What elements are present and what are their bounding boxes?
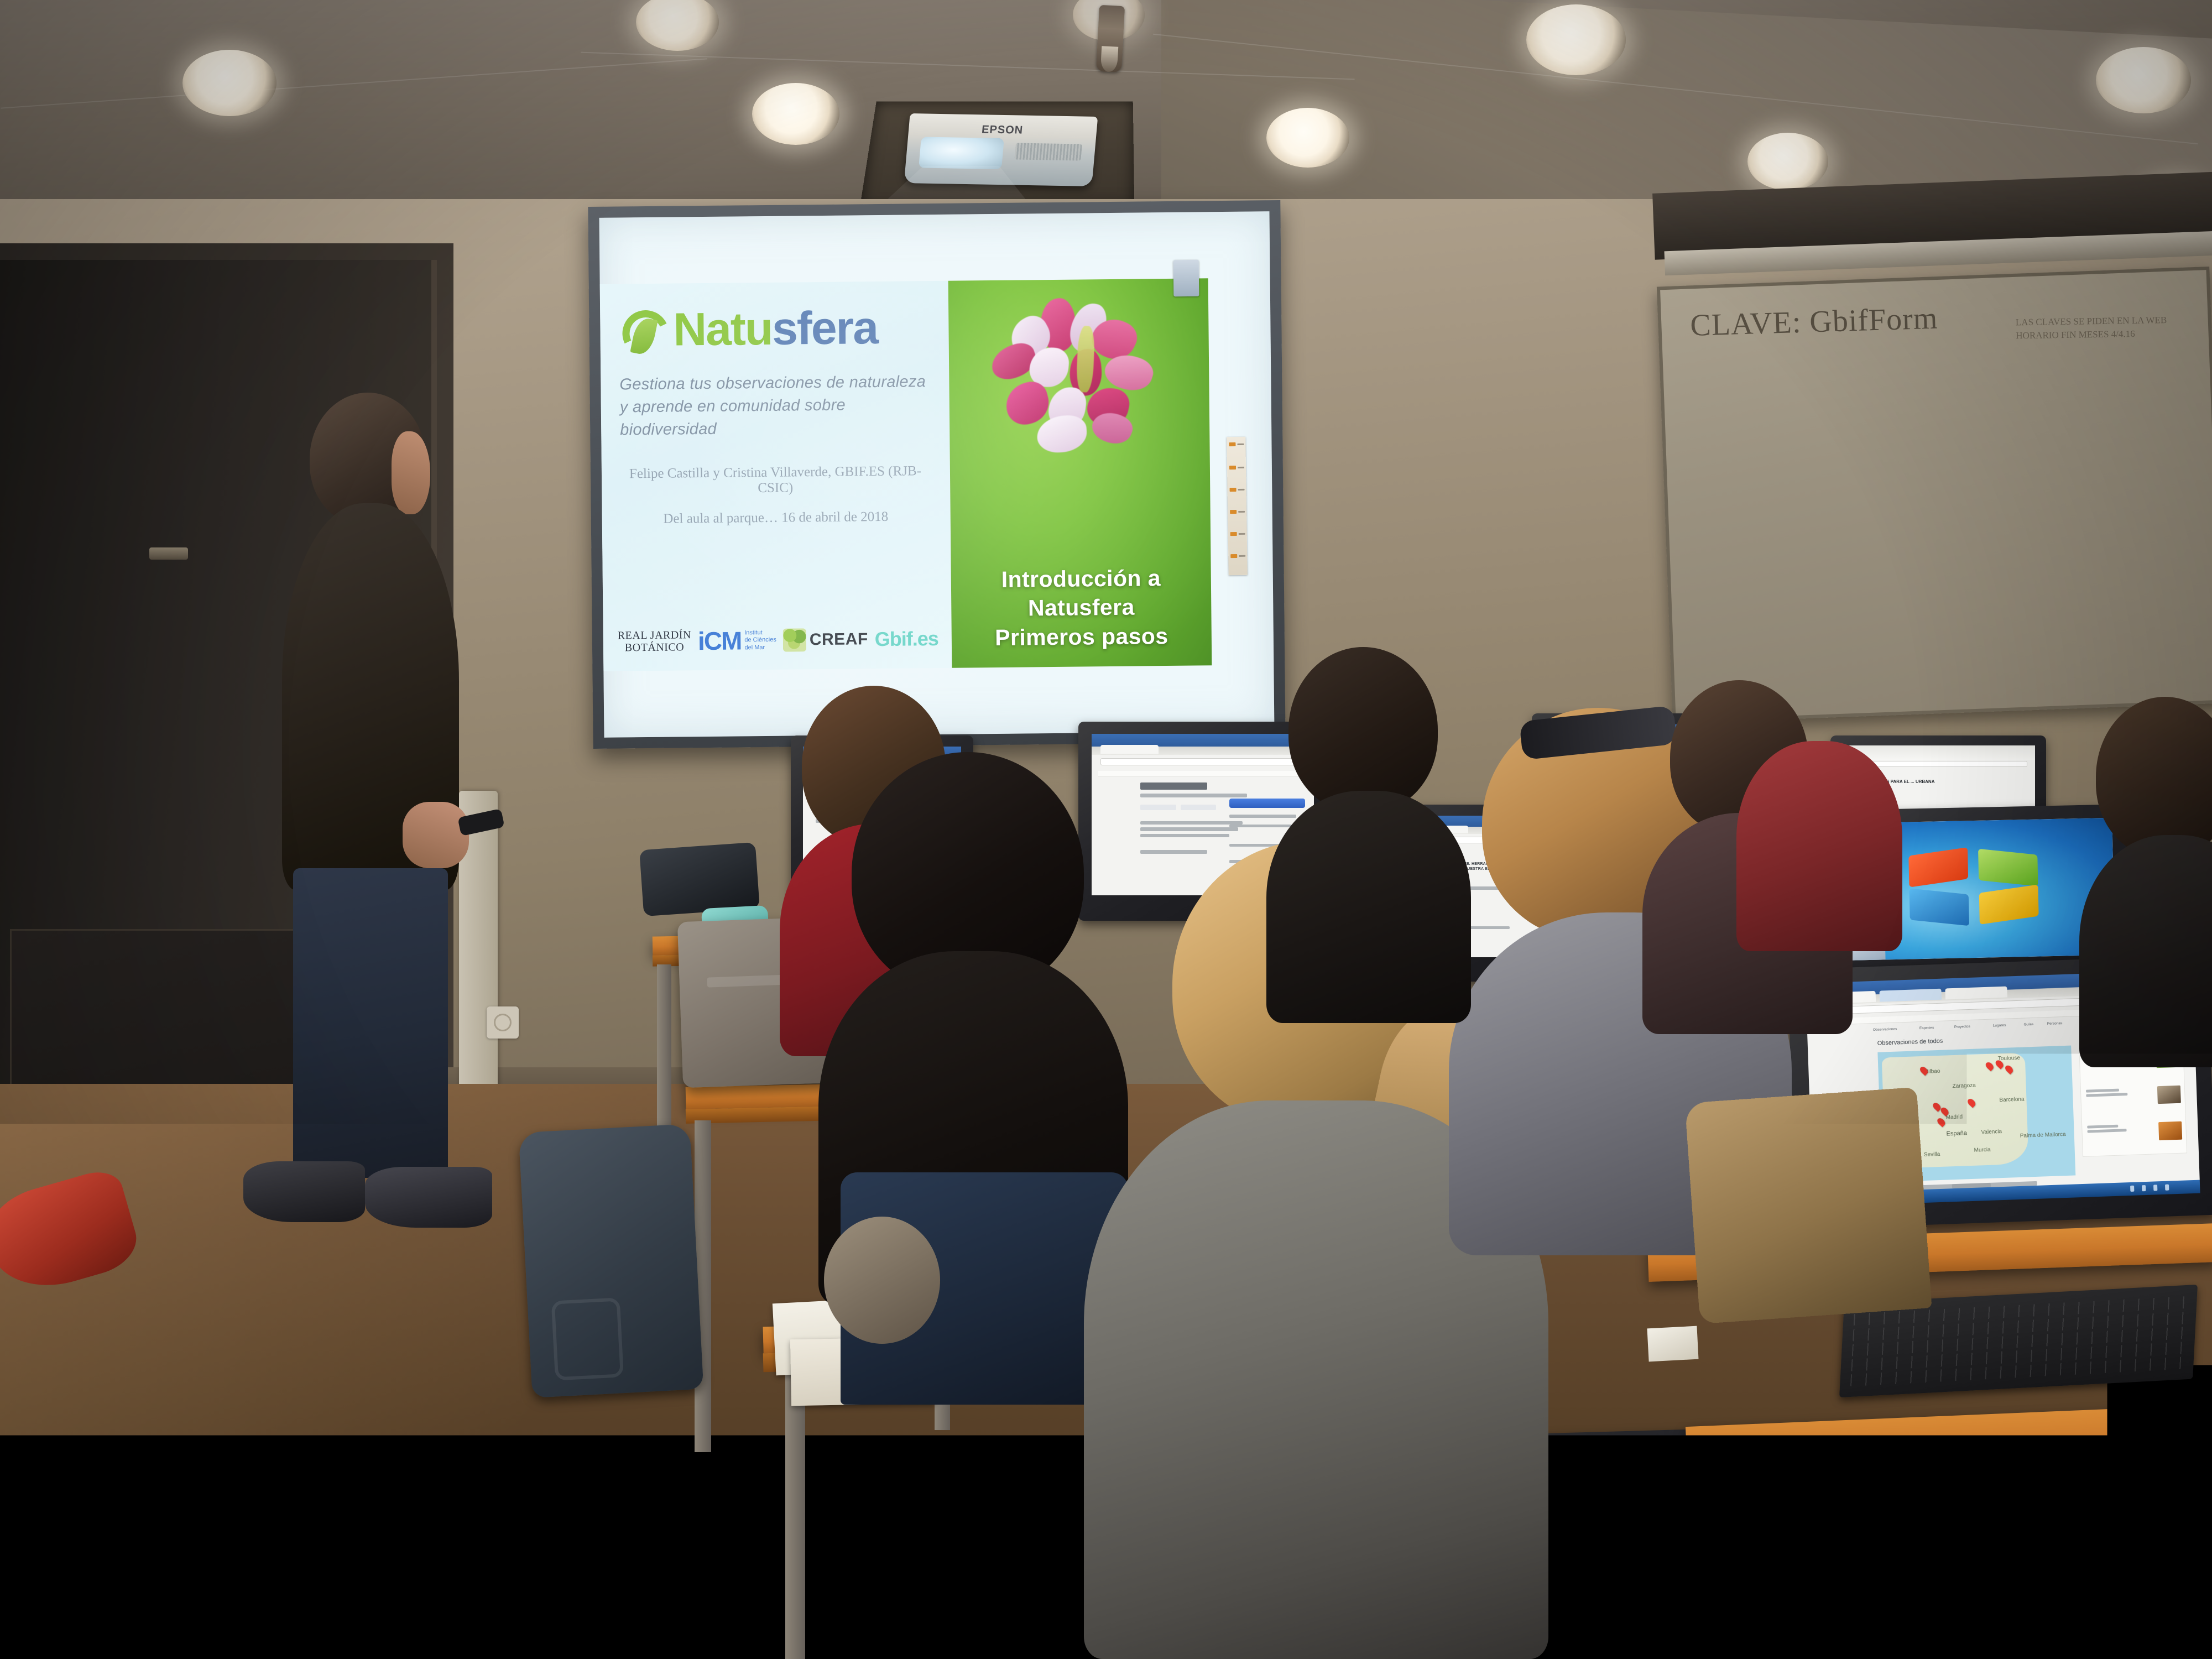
presenter-legs	[293, 868, 448, 1178]
windows-logo-icon	[1908, 849, 2038, 924]
slide-event: Del aula al parque… 16 de abril de 2018	[621, 509, 931, 527]
presenter-shoe	[365, 1167, 492, 1228]
attendee-5-head	[1288, 647, 1438, 813]
projector-vent	[1014, 143, 1082, 160]
presenter-hand	[403, 802, 469, 868]
ceiling-downlight	[752, 83, 839, 145]
creaf-text: CREAF	[810, 630, 868, 649]
natusfera-logo: Natusfera	[619, 306, 930, 361]
whiteboard[interactable]: CLAVE: GbifForm LAS CLAVES SE PIDEN EN L…	[1657, 267, 2212, 723]
attendee-8-torso	[1736, 741, 1902, 951]
projector-brand-label: EPSON	[981, 123, 1024, 137]
door-handle[interactable]	[149, 547, 188, 560]
leaf-icon	[619, 308, 672, 362]
classroom-scene: EPSON CLAVE: GbifForm LAS CLAVES SE PIDE…	[0, 0, 2212, 1659]
map-label-valencia: Valencia	[1981, 1129, 2002, 1135]
paper-slip	[1647, 1326, 1698, 1362]
icm-sub1: Institut	[744, 629, 776, 637]
add-observation-button[interactable]	[1229, 799, 1305, 808]
projector: EPSON	[904, 113, 1098, 186]
presenter-shoe	[243, 1161, 365, 1222]
jacket-on-desk	[639, 842, 760, 916]
observation-thumbnail[interactable]	[2157, 1086, 2180, 1104]
nav-personas[interactable]: Personas	[2047, 1021, 2063, 1026]
slide-sponsor-logos: REAL JARDÍN BOTÁNICO iCM Institut de Ciè…	[618, 624, 938, 657]
backpack	[519, 1124, 704, 1398]
wall-socket[interactable]	[487, 1006, 519, 1039]
ceiling-downlight	[1526, 4, 1626, 75]
ceiling-downlight	[182, 50, 276, 116]
ceiling-downlight	[1266, 108, 1349, 168]
map-label-barcelona: Barcelona	[1999, 1097, 2024, 1104]
presentation-slide: Natusfera Gestiona tus observaciones de …	[600, 278, 1212, 671]
slide-title-line1: Introducción a	[951, 563, 1211, 594]
sunglasses	[2100, 1439, 2212, 1497]
attendee-5-torso	[1266, 791, 1471, 1023]
screen-corner-sticker	[1173, 260, 1199, 296]
attendee-2-fur-hood	[824, 1217, 940, 1344]
presenter-face	[392, 431, 430, 514]
page-title: Observaciones de todos	[1877, 1038, 1943, 1047]
projector-lens-icon	[919, 137, 1004, 169]
slide-title-line3: Primeros pasos	[952, 621, 1212, 653]
slide-title: Introducción a Natusfera Primeros pasos	[951, 563, 1212, 653]
slide-left-panel: Natusfera Gestiona tus observaciones de …	[600, 281, 952, 671]
observation-thumbnail[interactable]	[2158, 1121, 2182, 1140]
logo-real-jardin-botanico: REAL JARDÍN BOTÁNICO	[618, 629, 692, 654]
whiteboard-heading: CLAVE: GbifForm	[1690, 301, 1939, 343]
logo-icm: iCM Institut de Ciències del Mar	[698, 625, 776, 656]
map-label-sevilla: Sevilla	[1924, 1151, 1940, 1158]
rjb-line1: REAL JARDÍN	[618, 629, 691, 642]
slide-byline-block: Felipe Castilla y Cristina Villaverde, G…	[620, 463, 931, 527]
icm-sub2: de Ciències	[744, 637, 776, 644]
coat-on-chair	[1685, 1087, 1932, 1324]
nav-guias[interactable]: Guías	[2024, 1022, 2034, 1027]
ceiling-downlight	[2096, 47, 2191, 113]
icm-mark: iCM	[698, 625, 742, 656]
logo-creaf: CREAF	[783, 628, 868, 651]
orchid-photo	[974, 293, 1175, 461]
slide-authors: Felipe Castilla y Cristina Villaverde, G…	[620, 463, 931, 497]
slide-title-line2: Natusfera	[951, 592, 1211, 623]
map-label-palma: Palma de Mallorca	[2020, 1131, 2066, 1139]
icm-subtitle: Institut de Ciències del Mar	[744, 629, 776, 652]
map-label-espana: España	[1946, 1130, 1967, 1137]
ceiling-downlight	[1747, 133, 1828, 190]
slide-right-photo-panel: Introducción a Natusfera Primeros pasos	[948, 278, 1212, 667]
nav-observaciones[interactable]: Observaciones	[1873, 1027, 1897, 1032]
slide-tagline: Gestiona tus observaciones de naturaleza…	[619, 371, 930, 442]
icm-sub3: del Mar	[744, 644, 776, 652]
natusfera-wordmark: Natusfera	[673, 307, 878, 351]
rjb-line2: BOTÁNICO	[618, 641, 691, 654]
foreground-shadow	[0, 1537, 973, 1659]
map-label-zaragoza: Zaragoza	[1952, 1083, 1976, 1089]
wordmark-natu: Natu	[673, 302, 773, 356]
nav-especies[interactable]: Especies	[1919, 1026, 1934, 1030]
nav-proyectos[interactable]: Proyectos	[1954, 1025, 1970, 1029]
map-label-madrid: Madrid	[1945, 1114, 1963, 1121]
nav-lugares[interactable]: Lugares	[1993, 1024, 2006, 1028]
tree-icon	[783, 628, 806, 651]
logo-gbif-es: Gbif.es	[875, 627, 938, 651]
screen-side-label	[1227, 437, 1247, 575]
sprinkler-head-icon	[1096, 5, 1125, 72]
map-label-murcia: Murcia	[1974, 1147, 1990, 1154]
wordmark-sfera: sfera	[772, 301, 878, 354]
whiteboard-note: LAS CLAVES SE PIDEN EN LA WEB HORARIO FI…	[2016, 313, 2199, 342]
